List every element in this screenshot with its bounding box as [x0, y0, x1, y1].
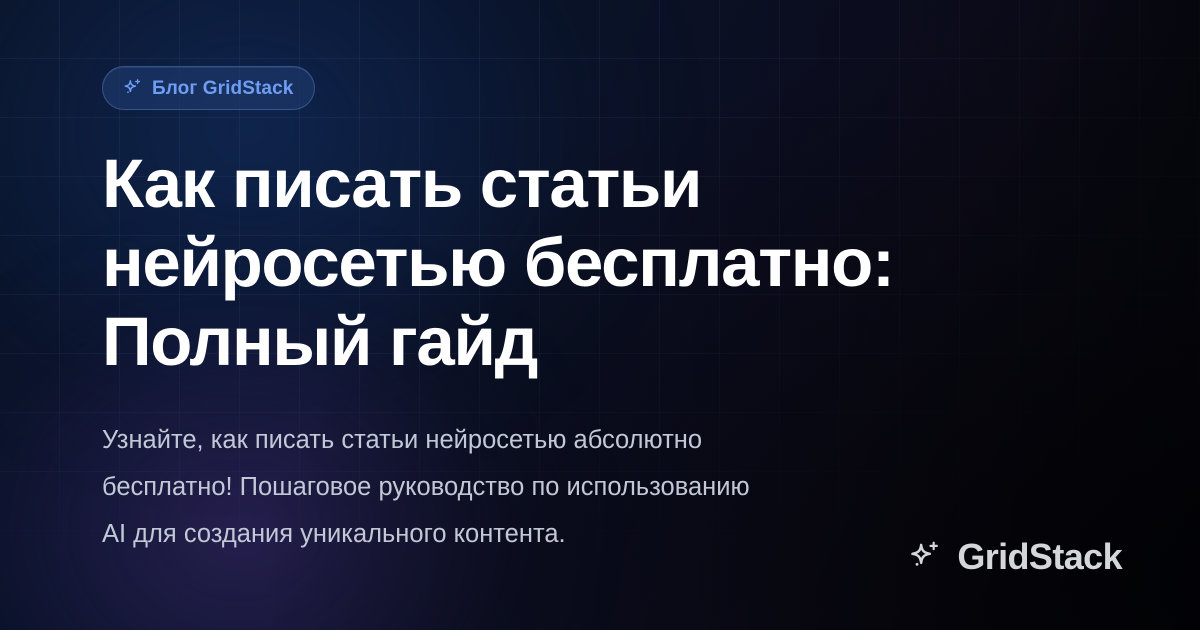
sparkle-icon	[121, 77, 143, 99]
title-line-1: Как писать статьи	[102, 144, 1002, 223]
blog-badge-label: Блог GridStack	[152, 79, 293, 98]
title-line-2: нейросетью бесплатно:	[102, 223, 1002, 302]
page-title: Как писать статьи нейросетью бесплатно: …	[102, 144, 1002, 381]
subtitle-line-1: Узнайте, как писать статьи нейросетью аб…	[102, 417, 982, 464]
subtitle-line-2: бесплатно! Пошаговое руководство по испо…	[102, 464, 982, 511]
title-line-3: Полный гайд	[102, 302, 1002, 381]
sparkle-icon	[905, 538, 943, 576]
brand-logo[interactable]: GridStack	[905, 538, 1122, 576]
subtitle-line-3: AI для создания уникального контента.	[102, 511, 982, 558]
blog-badge[interactable]: Блог GridStack	[102, 66, 315, 110]
page-subtitle: Узнайте, как писать статьи нейросетью аб…	[102, 417, 982, 558]
blog-cover-card: Блог GridStack Как писать статьи нейросе…	[0, 0, 1200, 630]
brand-name-label: GridStack	[957, 539, 1122, 575]
cover-content: Блог GridStack Как писать статьи нейросе…	[102, 66, 1120, 558]
